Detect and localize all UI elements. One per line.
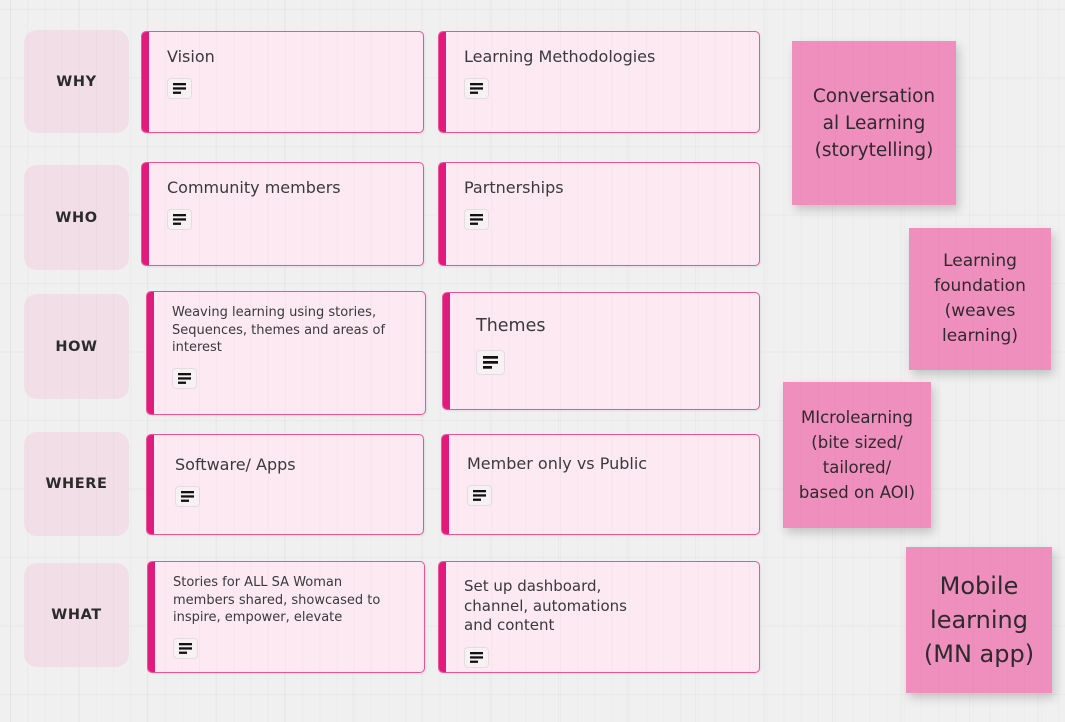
- description-icon[interactable]: [464, 647, 489, 668]
- sticky-note-text: MIcrolearning (bite sized/ tailored/ bas…: [799, 405, 915, 505]
- card-title: Partnerships: [464, 178, 724, 198]
- card-vision[interactable]: Vision: [141, 31, 424, 133]
- row-label-how[interactable]: HOW: [24, 294, 129, 399]
- row-label-text: WHERE: [45, 476, 107, 492]
- note-line: MIcrolearning: [799, 405, 915, 430]
- description-icon[interactable]: [175, 486, 200, 507]
- description-icon[interactable]: [172, 368, 197, 389]
- note-line: (storytelling): [813, 137, 935, 164]
- card-accent-bar: [142, 32, 149, 132]
- card-learning-methodologies[interactable]: Learning Methodologies: [438, 31, 760, 133]
- row-label-why[interactable]: WHY: [24, 30, 129, 133]
- description-icon[interactable]: [464, 78, 489, 99]
- description-icon[interactable]: [467, 485, 492, 506]
- note-line: learning): [934, 324, 1026, 349]
- card-accent-bar: [439, 163, 446, 265]
- note-line: Learning: [934, 249, 1026, 274]
- card-community-members[interactable]: Community members: [141, 162, 424, 266]
- row-label-who[interactable]: WHO: [24, 165, 129, 270]
- card-accent-bar: [442, 435, 449, 534]
- note-line: foundation: [934, 274, 1026, 299]
- note-line: (weaves: [934, 299, 1026, 324]
- row-label-what[interactable]: WHAT: [24, 563, 129, 667]
- card-software-apps[interactable]: Software/ Apps: [146, 434, 424, 535]
- card-title: Software/ Apps: [175, 455, 393, 475]
- card-title: Set up dashboard, channel, automations a…: [464, 577, 659, 636]
- sticky-note-learning-foundation[interactable]: Learning foundation (weaves learning): [909, 228, 1051, 370]
- card-title: Weaving learning using stories, Sequence…: [172, 304, 407, 357]
- row-label-text: WHO: [55, 210, 97, 226]
- description-icon[interactable]: [173, 638, 198, 659]
- card-themes[interactable]: Themes: [442, 292, 760, 410]
- card-weaving-learning[interactable]: Weaving learning using stories, Sequence…: [146, 291, 426, 415]
- card-title: Community members: [167, 178, 392, 198]
- note-line: learning: [924, 603, 1034, 637]
- card-title: Themes: [476, 315, 725, 337]
- card-title: Learning Methodologies: [464, 47, 724, 67]
- sticky-note-text: Learning foundation (weaves learning): [934, 249, 1026, 349]
- card-accent-bar: [147, 435, 154, 534]
- card-accent-bar: [443, 293, 450, 409]
- description-icon[interactable]: [476, 350, 505, 375]
- note-line: Conversation: [813, 83, 935, 110]
- row-label-where[interactable]: WHERE: [24, 432, 129, 536]
- note-line: based on AOI): [799, 480, 915, 505]
- note-line: al Learning: [813, 110, 935, 137]
- card-set-up-dashboard[interactable]: Set up dashboard, channel, automations a…: [438, 561, 760, 673]
- sticky-note-text: Conversation al Learning (storytelling): [813, 83, 935, 164]
- sticky-note-conversational-learning[interactable]: Conversation al Learning (storytelling): [792, 41, 956, 205]
- row-label-text: WHAT: [51, 607, 102, 623]
- card-partnerships[interactable]: Partnerships: [438, 162, 760, 266]
- description-icon[interactable]: [464, 209, 489, 230]
- card-accent-bar: [439, 32, 446, 132]
- sticky-note-mobile-learning[interactable]: Mobile learning (MN app): [906, 547, 1052, 693]
- card-stories-for-all[interactable]: Stories for ALL SA Woman members shared,…: [147, 561, 425, 673]
- row-label-text: WHY: [56, 74, 96, 90]
- card-title: Stories for ALL SA Woman members shared,…: [173, 574, 406, 627]
- row-label-text: HOW: [55, 339, 97, 355]
- note-line: (bite sized/: [799, 430, 915, 455]
- card-title: Vision: [167, 47, 392, 67]
- board-canvas[interactable]: WHY WHO HOW WHERE WHAT Vision Learning M…: [0, 0, 1065, 722]
- sticky-note-text: Mobile learning (MN app): [924, 569, 1034, 671]
- card-accent-bar: [147, 292, 154, 414]
- note-line: Mobile: [924, 569, 1034, 603]
- card-accent-bar: [142, 163, 149, 265]
- description-icon[interactable]: [167, 78, 192, 99]
- description-icon[interactable]: [167, 209, 192, 230]
- note-line: tailored/: [799, 455, 915, 480]
- card-accent-bar: [148, 562, 155, 672]
- card-accent-bar: [439, 562, 446, 672]
- card-member-only-vs-public[interactable]: Member only vs Public: [441, 434, 760, 535]
- note-line: (MN app): [924, 637, 1034, 671]
- sticky-note-microlearning[interactable]: MIcrolearning (bite sized/ tailored/ bas…: [783, 382, 931, 528]
- card-title: Member only vs Public: [467, 454, 724, 474]
